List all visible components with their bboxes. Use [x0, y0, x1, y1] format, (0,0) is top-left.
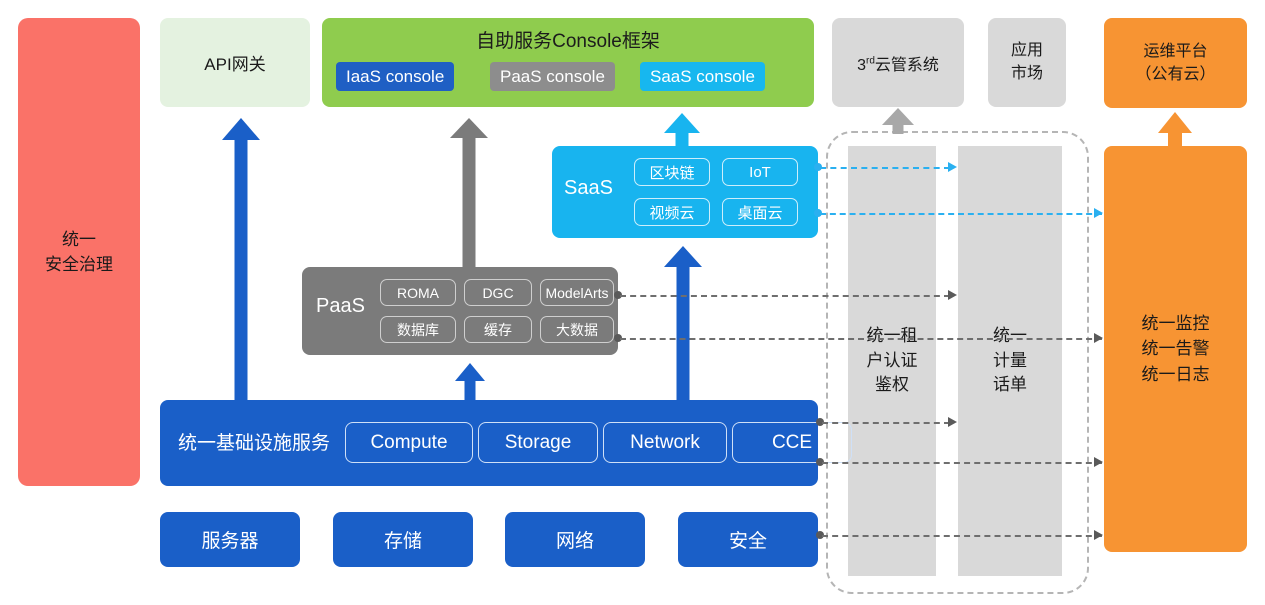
infra-box-storage: 存储: [333, 512, 473, 567]
console-framework-title: 自助服务Console框架: [322, 26, 814, 53]
arrow-iaas-to-paas: [455, 363, 485, 401]
paas-console-chip: PaaS console: [490, 62, 615, 91]
connector-arrowhead-saas-ops: [1094, 208, 1103, 218]
arrow-iaas-to-saas: [664, 246, 702, 400]
ops-monitoring-pillar: 统一监控 统一告警 统一日志: [1104, 146, 1247, 552]
saas-layer-label: SaaS: [564, 177, 613, 200]
iaas-chip-network: Network: [603, 422, 727, 463]
iaas-layer-box: 统一基础设施服务 Compute Storage Network CCE: [160, 400, 818, 486]
ops-platform-line1: 运维平台: [1135, 40, 1215, 63]
connector-arrowhead-iaas-auth: [948, 417, 957, 427]
connector-iaas-to-ops: [822, 462, 1102, 464]
connector-iaas-to-tenant-auth: [822, 422, 950, 424]
unified-metering-billing-column: 统一 计量 话单: [958, 146, 1062, 576]
security-pillar-line2: 安全治理: [45, 252, 113, 278]
arrow-ops-pillar-to-ops-top: [1158, 112, 1192, 148]
ops-pillar-line3: 统一日志: [1142, 362, 1210, 388]
ops-platform-public-cloud-box: 运维平台 （公有云）: [1104, 18, 1247, 108]
ops-platform-line2: （公有云）: [1135, 63, 1215, 86]
paas-layer-box: PaaS ROMA DGC ModelArts 数据库 缓存 大数据: [302, 267, 618, 355]
arrow-shared-to-third-cloud: [882, 108, 914, 134]
unified-metering-line2: 计量: [993, 349, 1027, 374]
paas-chip-cache: 缓存: [464, 316, 532, 343]
saas-chip-desktop-cloud: 桌面云: [722, 198, 798, 226]
iaas-console-chip: IaaS console: [336, 62, 454, 91]
connector-saas-to-ops: [820, 213, 1102, 215]
api-gateway-label: API网关: [204, 50, 265, 75]
paas-chip-modelarts: ModelArts: [540, 279, 614, 306]
arrow-saas-to-console: [664, 113, 700, 146]
saas-chip-video-cloud: 视频云: [634, 198, 710, 226]
infra-box-security: 安全: [678, 512, 818, 567]
connector-saas-to-tenant-auth: [820, 167, 950, 169]
third-party-cloud-mgmt-label: 3rd云管系统: [857, 51, 939, 75]
connector-paas-to-ops: [620, 338, 1102, 340]
connector-arrowhead-saas-auth: [948, 162, 957, 172]
unified-metering-line1: 统一: [993, 324, 1027, 349]
third-party-cloud-mgmt-box: 3rd云管系统: [832, 18, 964, 107]
security-pillar-line1: 统一: [45, 227, 113, 253]
iaas-layer-label: 统一基础设施服务: [178, 428, 330, 455]
connector-paas-to-tenant-auth: [620, 295, 950, 297]
ops-pillar-line2: 统一告警: [1142, 336, 1210, 362]
console-framework-box: 自助服务Console框架 IaaS console PaaS console …: [322, 18, 814, 107]
connector-arrowhead-infra-ops: [1094, 530, 1103, 540]
iaas-chip-compute: Compute: [345, 422, 473, 463]
unified-metering-line3: 话单: [993, 373, 1027, 398]
paas-layer-label: PaaS: [316, 295, 365, 318]
paas-chip-database: 数据库: [380, 316, 456, 343]
ops-pillar-line1: 统一监控: [1142, 311, 1210, 337]
iaas-chip-storage: Storage: [478, 422, 598, 463]
unified-tenant-auth-column: 统一租 户认证 鉴权: [848, 146, 936, 576]
infra-box-server: 服务器: [160, 512, 300, 567]
api-gateway-box: API网关: [160, 18, 310, 107]
security-governance-pillar: 统一 安全治理: [18, 18, 140, 486]
architecture-diagram: 统一 安全治理 API网关 自助服务Console框架 IaaS console…: [0, 0, 1265, 605]
connector-arrowhead-iaas-ops: [1094, 457, 1103, 467]
saas-chip-iot: IoT: [722, 158, 798, 186]
connector-infra-to-ops: [822, 535, 1102, 537]
app-market-line1: 应用: [1011, 40, 1043, 62]
arrow-iaas-to-api-gateway: [222, 118, 260, 400]
app-market-box: 应用 市场: [988, 18, 1066, 107]
connector-arrowhead-paas-ops: [1094, 333, 1103, 343]
connector-arrowhead-paas-auth: [948, 290, 957, 300]
paas-chip-bigdata: 大数据: [540, 316, 614, 343]
unified-tenant-auth-line3: 鉴权: [867, 373, 918, 398]
arrow-paas-to-console: [450, 118, 488, 267]
app-market-line2: 市场: [1011, 63, 1043, 85]
saas-console-chip: SaaS console: [640, 62, 765, 91]
infra-box-network: 网络: [505, 512, 645, 567]
unified-tenant-auth-line1: 统一租: [867, 324, 918, 349]
iaas-chip-cce: CCE: [732, 422, 852, 463]
saas-chip-blockchain: 区块链: [634, 158, 710, 186]
paas-chip-roma: ROMA: [380, 279, 456, 306]
unified-tenant-auth-line2: 户认证: [867, 349, 918, 374]
paas-chip-dgc: DGC: [464, 279, 532, 306]
saas-layer-box: SaaS 区块链 IoT 视频云 桌面云: [552, 146, 818, 238]
